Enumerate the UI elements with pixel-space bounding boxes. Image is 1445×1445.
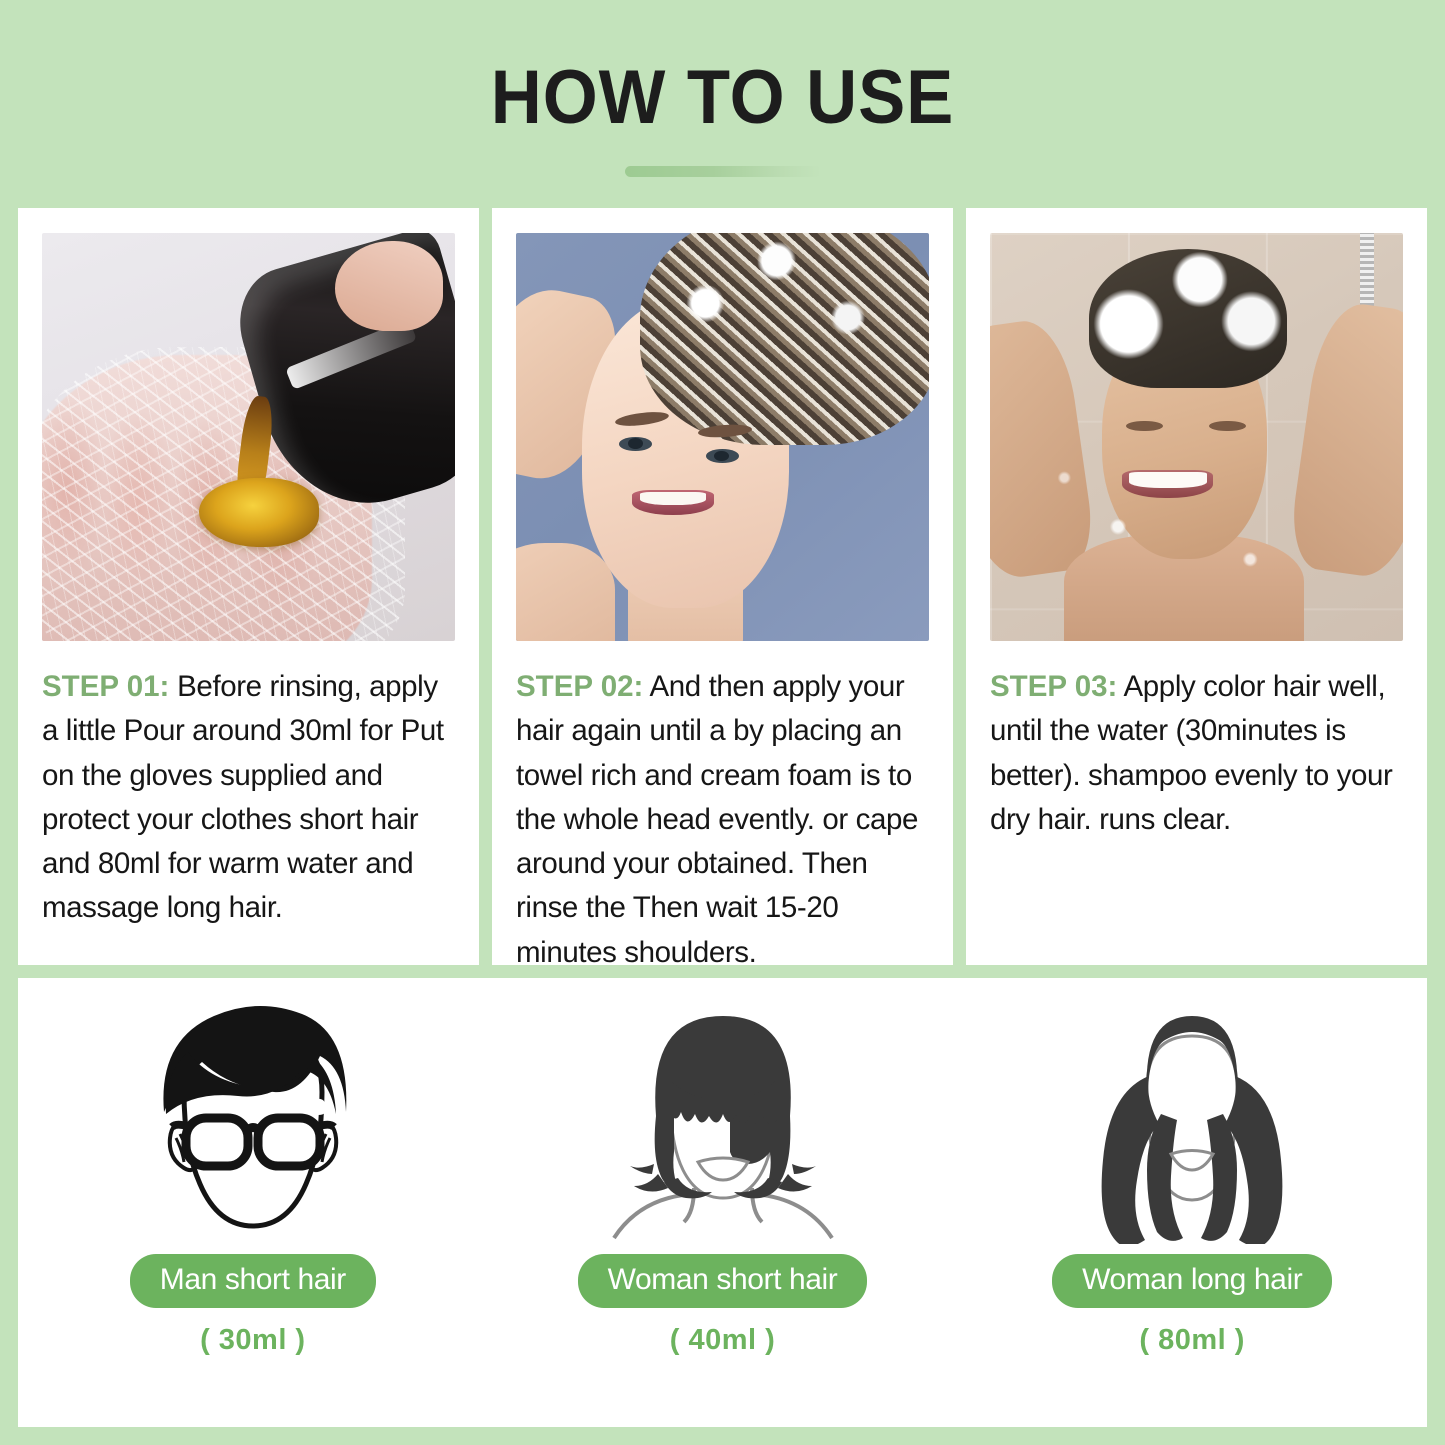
left-eye-shape xyxy=(619,437,652,451)
teeth-shape xyxy=(640,492,706,505)
how-to-use-infographic: HOW TO USE STEP 01: Before rinsing, appl… xyxy=(0,0,1445,1445)
step-card-1: STEP 01: Before rinsing, apply a little … xyxy=(18,208,479,965)
step-3-text: STEP 03: Apply color hair well, until th… xyxy=(990,665,1403,842)
title-underline-rule xyxy=(625,166,821,177)
product-pool-shape xyxy=(199,478,319,547)
mouth-shape xyxy=(632,490,715,514)
step-1-text: STEP 01: Before rinsing, apply a little … xyxy=(42,665,455,931)
woman-long-hair-icon xyxy=(1067,996,1317,1244)
right-eye-shape xyxy=(706,449,739,463)
hair-type-amount-woman-long: ( 80ml ) xyxy=(1139,1324,1245,1357)
step-1-body: Before rinsing, apply a little Pour arou… xyxy=(42,670,444,924)
step-2-body: And then apply your hair again until a b… xyxy=(516,670,918,965)
shoulder-shape xyxy=(516,543,615,641)
hair-type-label-woman-long[interactable]: Woman long hair xyxy=(1052,1254,1332,1308)
page-title: HOW TO USE xyxy=(51,60,1395,136)
step-3-photo xyxy=(990,233,1403,641)
man-short-hair-icon xyxy=(128,996,378,1244)
woman-short-hair-icon xyxy=(598,996,848,1244)
step-1-photo xyxy=(42,233,455,641)
step-2-text: STEP 02: And then apply your hair again … xyxy=(516,665,929,965)
lathered-hair-shape xyxy=(640,233,929,445)
hair-type-man-short: Man short hair ( 30ml ) xyxy=(18,978,488,1427)
step-3-label: STEP 03: xyxy=(990,670,1117,703)
thumb-shape xyxy=(335,241,442,331)
hair-type-woman-short: Woman short hair ( 40ml ) xyxy=(488,978,958,1427)
step-2-photo xyxy=(516,233,929,641)
step-1-label: STEP 01: xyxy=(42,670,169,703)
hair-type-amount-man-short: ( 30ml ) xyxy=(200,1324,306,1357)
hair-type-panel: Man short hair ( 30ml ) xyxy=(18,978,1427,1427)
hair-type-amount-woman-short: ( 40ml ) xyxy=(670,1324,776,1357)
step-2-label: STEP 02: xyxy=(516,670,643,703)
hair-type-woman-long: Woman long hair ( 80ml ) xyxy=(957,978,1427,1427)
steps-row: STEP 01: Before rinsing, apply a little … xyxy=(18,208,1427,965)
header: HOW TO USE xyxy=(0,0,1445,208)
hair-type-label-woman-short[interactable]: Woman short hair xyxy=(578,1254,868,1308)
step-card-3: STEP 03: Apply color hair well, until th… xyxy=(966,208,1427,965)
step-card-2: STEP 02: And then apply your hair again … xyxy=(492,208,953,965)
hair-type-label-man-short[interactable]: Man short hair xyxy=(130,1254,376,1308)
water-droplets-overlay xyxy=(990,233,1403,641)
